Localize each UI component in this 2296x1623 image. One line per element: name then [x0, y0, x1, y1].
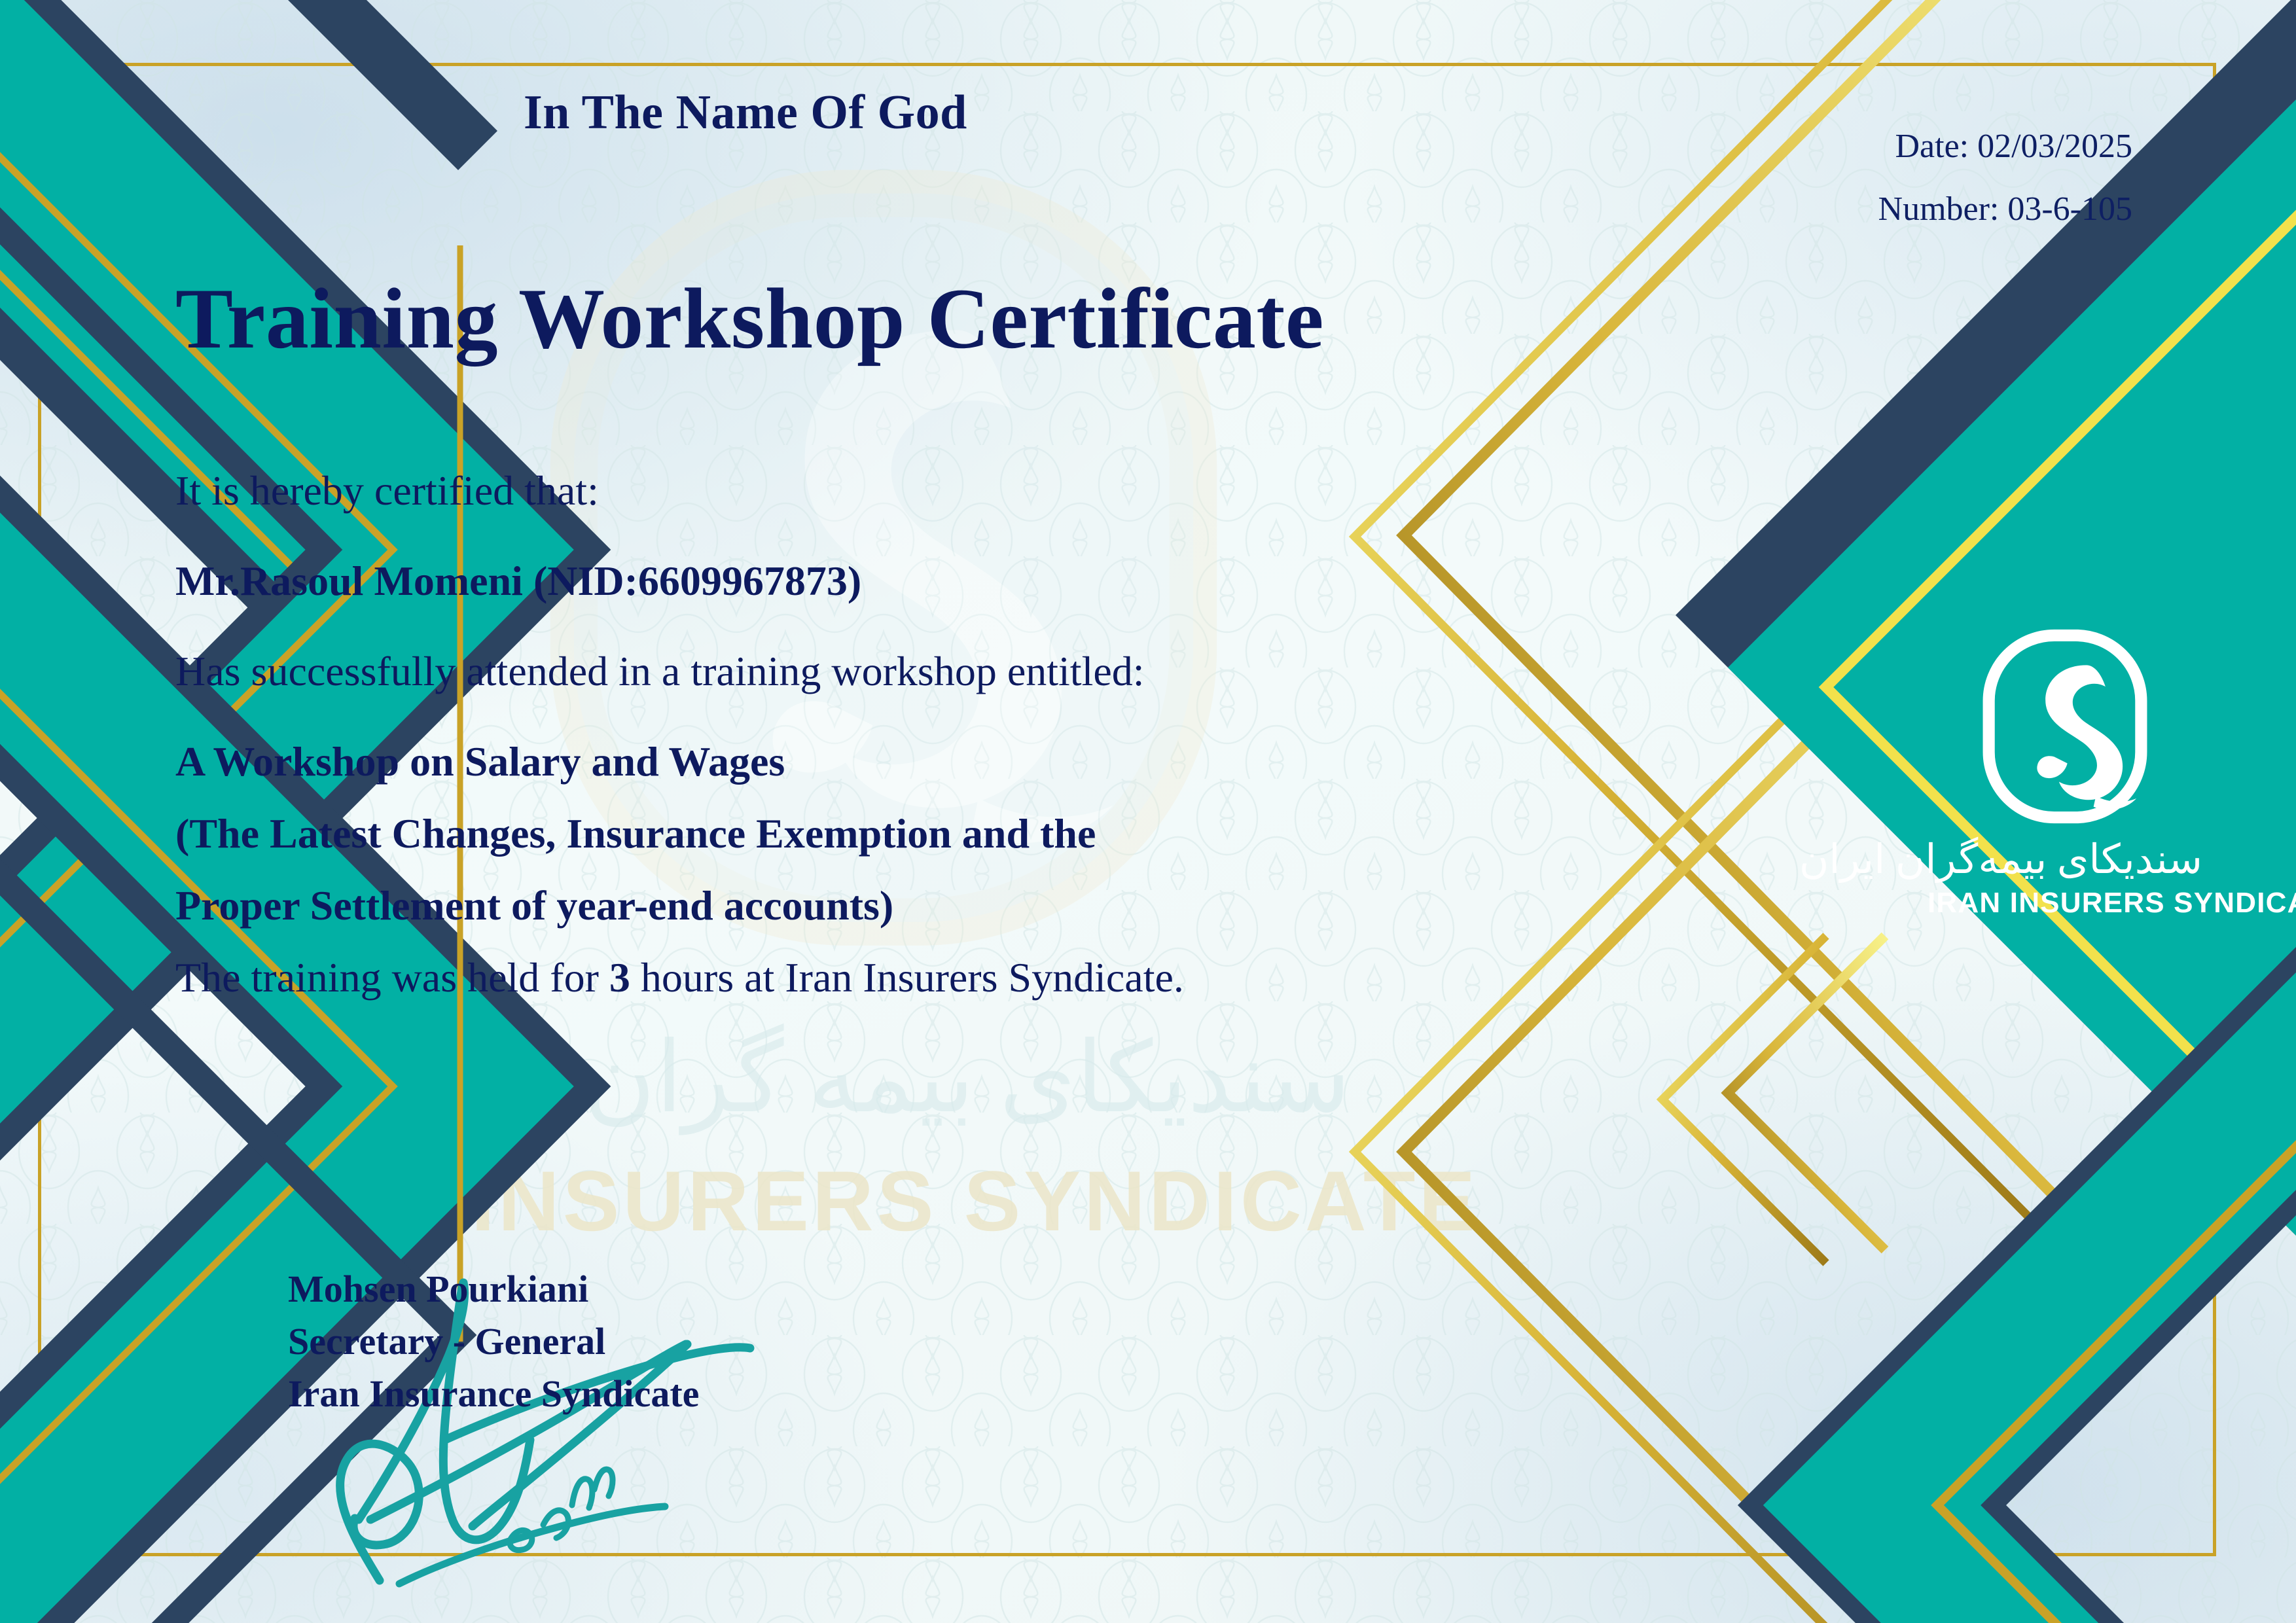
recipient-name: Mr.Rasoul Momeni (NID:6609967873)	[175, 560, 1458, 602]
bismillah-heading: In The Name Of God	[524, 85, 967, 141]
certified-intro-line: It is hereby certified that:	[175, 470, 1458, 512]
workshop-subtitle-line1: (The Latest Changes, Insurance Exemption…	[175, 813, 1458, 855]
workshop-subtitle-line2: Proper Settlement of year-end accounts)	[175, 885, 1458, 927]
issue-date: Date: 02/03/2025	[1878, 115, 2132, 178]
duration-hours: 3	[609, 954, 630, 1001]
syndicate-logo-lockup: سندیکای بیمه‌گران ایران IRAN INSURERS SY…	[1928, 628, 2202, 975]
signatory-organization: Iran Insurance Syndicate	[288, 1368, 699, 1420]
syndicate-logo-icon	[1967, 628, 2163, 825]
syndicate-name-fa: سندیکای بیمه‌گران ایران	[1928, 839, 2202, 882]
certificate-number: Number: 03-6-105	[1878, 178, 2132, 241]
page-title: Training Workshop Certificate	[175, 268, 1324, 368]
duration-line: The training was held for 3 hours at Ira…	[175, 957, 1458, 999]
certificate-body: It is hereby certified that: Mr.Rasoul M…	[175, 470, 1458, 1047]
signature-block: Mohsen Pourkiani Secretary - General Ira…	[288, 1263, 699, 1420]
attended-line: Has successfully attended in a training …	[175, 651, 1458, 692]
signatory-role: Secretary - General	[288, 1315, 699, 1368]
signatory-name: Mohsen Pourkiani	[288, 1263, 699, 1315]
duration-suffix: hours at Iran Insurers Syndicate.	[630, 954, 1184, 1001]
syndicate-name-en: IRAN INSURERS SYNDICATE	[1928, 887, 2202, 919]
certificate-page: سندیکای بیمه گران ایران IRAN INSURERS SY…	[0, 0, 2296, 1623]
certificate-meta: Date: 02/03/2025 Number: 03-6-105	[1878, 115, 2132, 241]
workshop-title: A Workshop on Salary and Wages	[175, 741, 1458, 783]
duration-prefix: The training was held for	[175, 954, 609, 1001]
